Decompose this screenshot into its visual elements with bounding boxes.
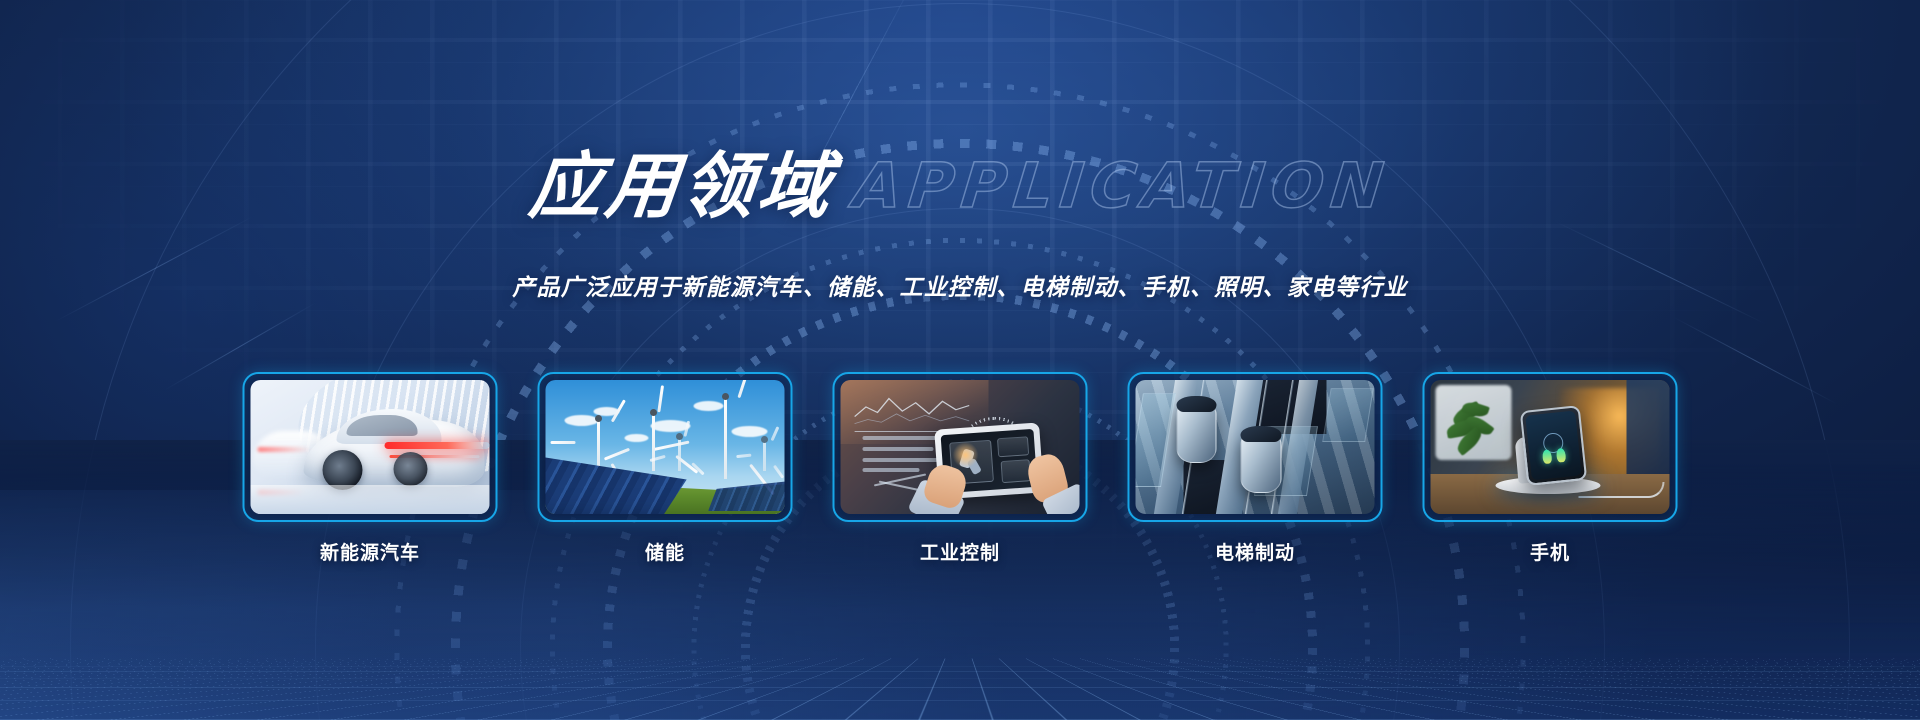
card-label: 储能 xyxy=(538,538,793,565)
application-banner: 应用领域 APPLICATION 产品广泛应用于新能源汽车、储能、工业控制、电梯… xyxy=(0,0,1920,720)
industrial-control-tablet-image xyxy=(841,380,1080,514)
application-card[interactable]: 储能 xyxy=(538,372,793,565)
card-label: 电梯制动 xyxy=(1128,538,1383,565)
application-card[interactable]: 工业控制 xyxy=(833,372,1088,565)
application-card-list: 新能源汽车 xyxy=(243,372,1678,565)
application-card[interactable]: 电梯制动 xyxy=(1128,372,1383,565)
card-frame[interactable] xyxy=(833,372,1088,522)
card-frame[interactable] xyxy=(538,372,793,522)
solar-wind-energy-storage-image xyxy=(546,380,785,514)
page-title: 应用领域 xyxy=(526,150,838,222)
card-label: 工业控制 xyxy=(833,538,1088,565)
ev-car-image xyxy=(251,380,490,514)
application-card[interactable]: 新能源汽车 xyxy=(243,372,498,565)
page-title-english: APPLICATION xyxy=(851,155,1393,217)
card-label: 新能源汽车 xyxy=(243,538,498,565)
card-frame[interactable] xyxy=(1128,372,1383,522)
card-frame[interactable] xyxy=(1423,372,1678,522)
card-frame[interactable] xyxy=(243,372,498,522)
smartphone-wireless-charger-image xyxy=(1431,380,1670,514)
card-label: 手机 xyxy=(1423,538,1678,565)
banner-heading: 应用领域 APPLICATION xyxy=(0,150,1920,222)
elevator-image xyxy=(1136,380,1375,514)
banner-subtitle: 产品广泛应用于新能源汽车、储能、工业控制、电梯制动、手机、照明、家电等行业 xyxy=(0,268,1920,302)
application-card[interactable]: 手机 xyxy=(1423,372,1678,565)
